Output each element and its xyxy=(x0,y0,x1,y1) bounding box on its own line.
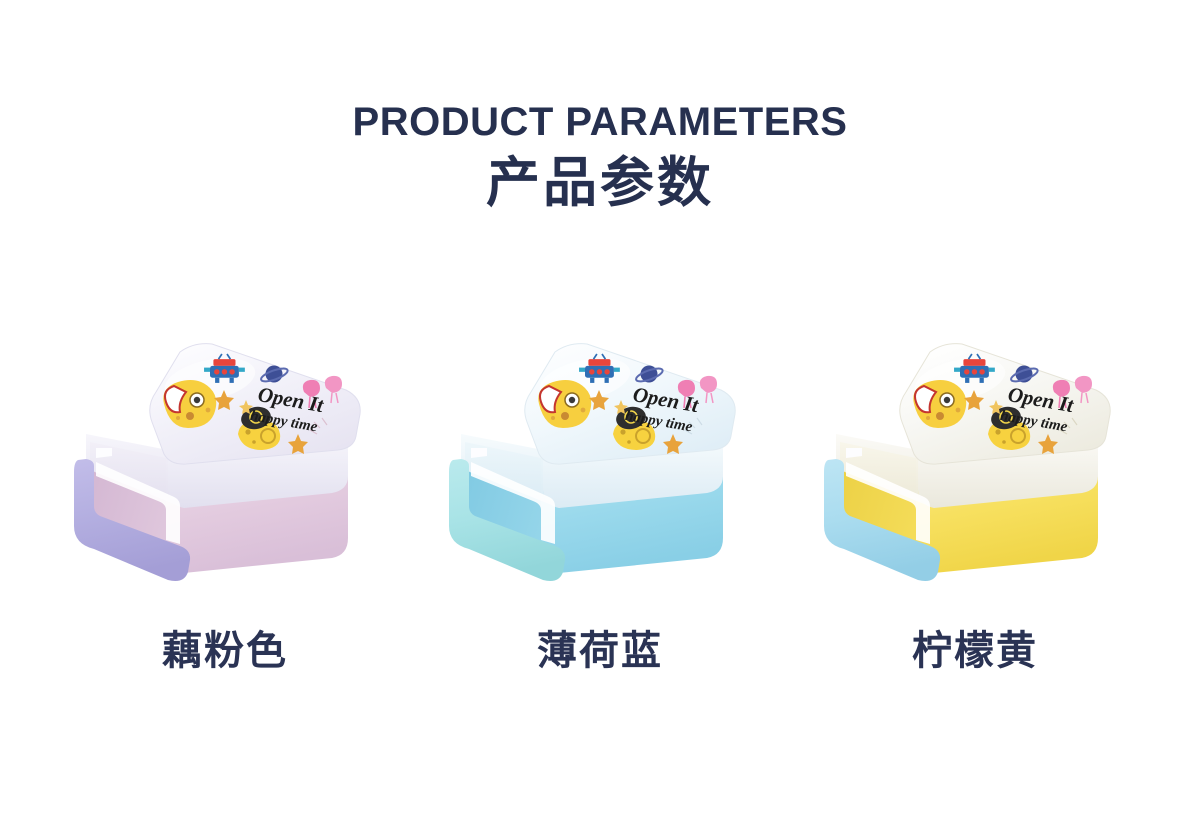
product-variant-row: Open It happy time 藕粉色 xyxy=(0,330,1200,750)
product-color-label: 柠檬黄 xyxy=(912,627,1038,675)
lunch-box-image: Open It happy time xyxy=(60,330,390,605)
page-header: PRODUCT PARAMETERS 产品参数 xyxy=(0,100,1200,214)
product-variant-lemon-yellow[interactable]: Open It happy time 柠檬黄 xyxy=(788,330,1163,750)
lunch-box-image: Open It happy time xyxy=(435,330,765,605)
lunch-box-svg: Open It happy time xyxy=(60,330,390,605)
lunch-box-image: Open It happy time xyxy=(810,330,1140,605)
product-color-label: 薄荷蓝 xyxy=(537,627,663,675)
page-title-chinese: 产品参数 xyxy=(0,152,1200,214)
lunch-box-svg: Open It happy time xyxy=(435,330,765,605)
product-color-label: 藕粉色 xyxy=(162,627,288,675)
product-variant-mint-blue[interactable]: Open It happy time 薄荷蓝 xyxy=(413,330,788,750)
product-variant-lotus-pink[interactable]: Open It happy time 藕粉色 xyxy=(38,330,413,750)
lunch-box-svg: Open It happy time xyxy=(810,330,1140,605)
page-title-english: PRODUCT PARAMETERS xyxy=(0,100,1200,144)
product-parameters-page: PRODUCT PARAMETERS 产品参数 xyxy=(0,0,1200,822)
